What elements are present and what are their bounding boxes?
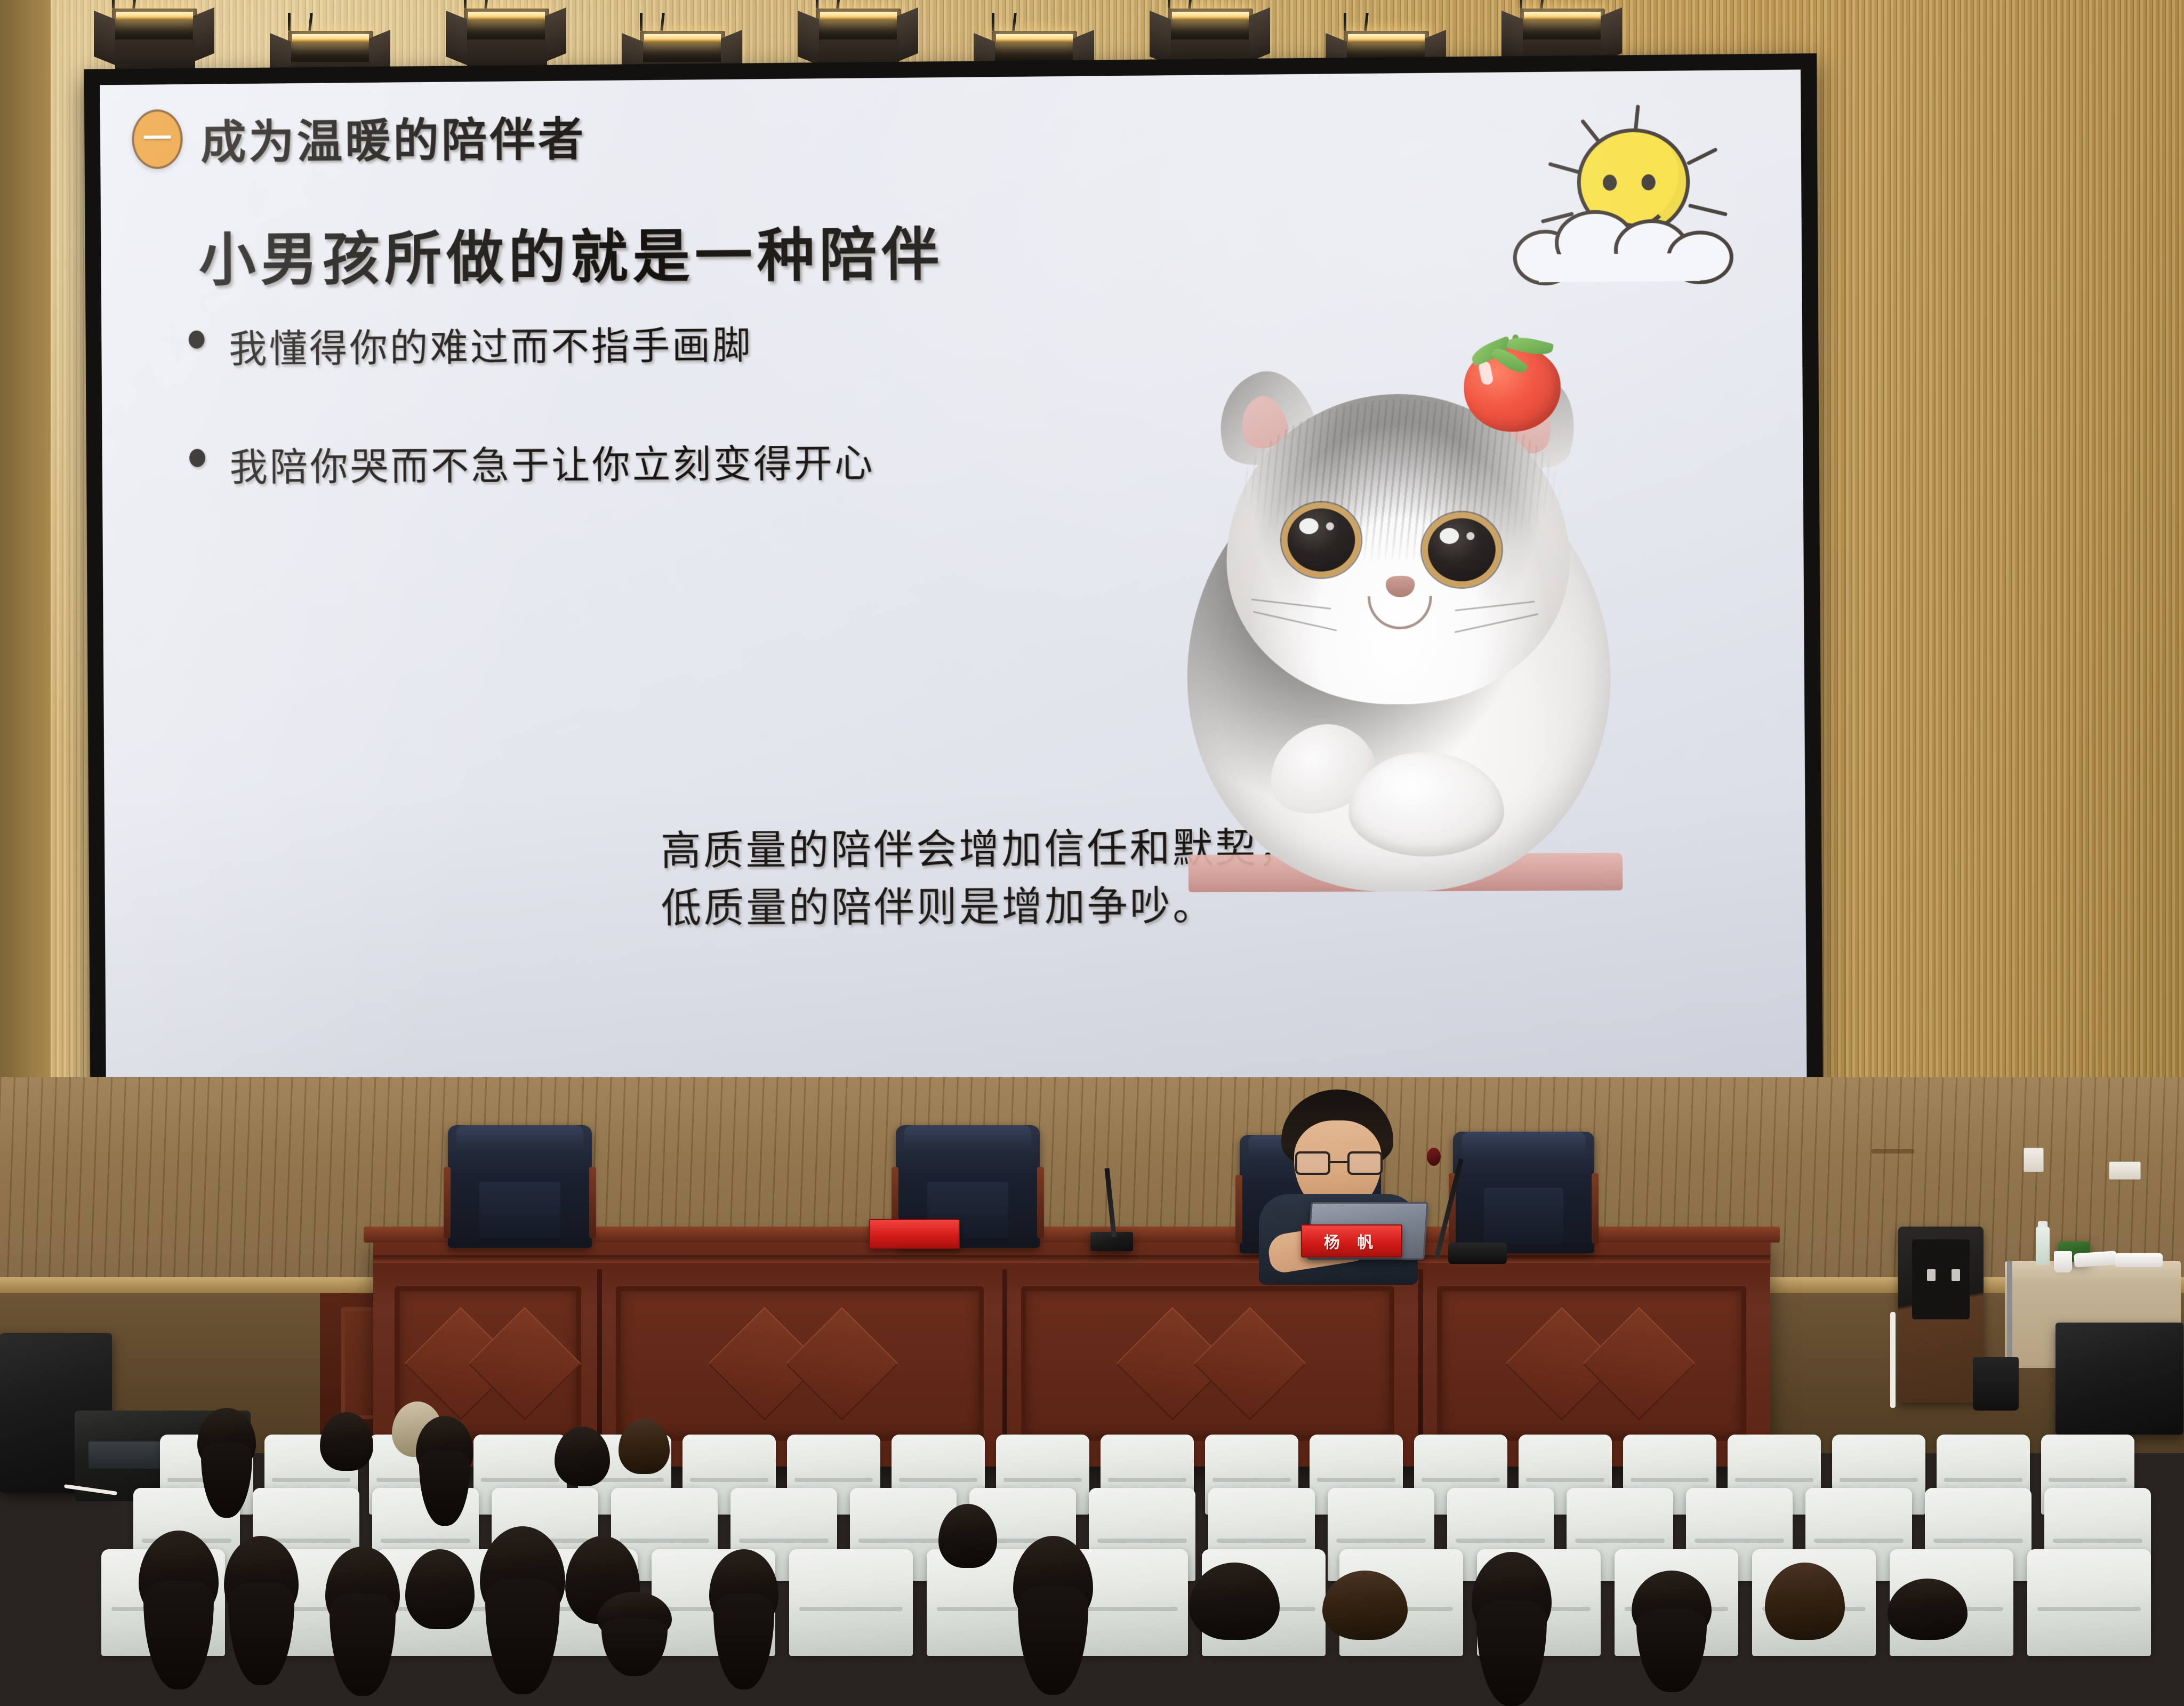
dispenser-tap-cold[interactable]	[1927, 1269, 1936, 1281]
barn-door-flap	[193, 7, 214, 62]
chair-cushion	[479, 1182, 560, 1238]
seat-cover-fold	[1317, 1478, 1395, 1482]
water-bottle	[2036, 1227, 2050, 1265]
seat-cover-fold	[1217, 1539, 1306, 1543]
cat-eye-left	[1281, 502, 1361, 578]
light-rod	[112, 0, 115, 9]
light-rod	[1520, 0, 1522, 9]
seat-cover-fold	[739, 1539, 829, 1543]
seat-cover-fold	[858, 1539, 948, 1543]
presenter-nameplate: 杨 帆	[1301, 1224, 1402, 1258]
light-lamp-glow	[468, 12, 545, 20]
eye-highlight	[1466, 532, 1474, 540]
barn-door-flap	[1601, 7, 1622, 62]
eye-highlight	[1440, 528, 1459, 544]
light-rod	[484, 0, 489, 9]
left-side-wall	[0, 0, 51, 1083]
sun-ray	[1687, 147, 1718, 165]
seat-cover-fold	[1213, 1478, 1291, 1482]
seat-cover-fold	[620, 1539, 709, 1543]
seat-cover-fold	[1074, 1607, 1178, 1611]
light-rod	[464, 0, 467, 9]
bullet-dot-icon	[189, 449, 205, 467]
table-leg	[2007, 1261, 2012, 1368]
barn-door-flap	[446, 11, 467, 65]
light-lamp-glow	[116, 12, 193, 20]
paper-cup	[2054, 1251, 2072, 1272]
table-front-panel	[616, 1286, 984, 1441]
projection-screen-frame: 一 成为温暖的陪伴者 小男孩所做的就是一种陪伴 我懂得你的难过而不指手画脚 我陪…	[84, 53, 1824, 1109]
dispenser-panel	[1912, 1239, 1970, 1319]
wall-switch-panel	[2109, 1162, 2141, 1180]
bullet-text: 我懂得你的难过而不指手画脚	[229, 314, 753, 373]
light-rod	[132, 0, 137, 9]
wall-vent	[1872, 1149, 1914, 1154]
table-rail	[373, 1255, 1770, 1263]
table-front-panel	[1021, 1286, 1394, 1441]
light-lamp-glow	[1172, 12, 1249, 20]
light-rod	[1540, 0, 1545, 9]
chair-headrest	[456, 1125, 583, 1150]
light-rod	[1012, 13, 1017, 31]
seat-cover-fold	[2037, 1607, 2141, 1611]
paper-cup-stack	[2115, 1253, 2163, 1267]
light-rod	[288, 13, 291, 31]
bullet-dot-icon	[189, 331, 205, 349]
table-chair	[448, 1125, 592, 1248]
seat-cover-fold	[1814, 1539, 1904, 1543]
seat-cover-fold	[1840, 1478, 1918, 1482]
seat-cover-fold	[794, 1478, 873, 1482]
seat-cover-fold	[690, 1478, 768, 1482]
seat-cover-fold	[1526, 1478, 1604, 1482]
section-number-text: 一	[143, 124, 172, 153]
chair-headrest	[904, 1125, 1031, 1150]
projection-screen-surface: 一 成为温暖的陪伴者 小男孩所做的就是一种陪伴 我懂得你的难过而不指手画脚 我陪…	[100, 69, 1806, 1093]
chair-arm-right	[589, 1167, 597, 1238]
light-rod	[836, 0, 841, 9]
bullet-item: 我陪你哭而不急于让你立刻变得开心	[189, 431, 875, 492]
slide-bullet-list: 我懂得你的难过而不指手画脚 我陪你哭而不急于让你立刻变得开心	[189, 313, 876, 555]
seat-cover-fold	[1735, 1478, 1813, 1482]
light-lamp-glow	[820, 12, 897, 20]
barn-door-flap	[94, 11, 115, 65]
light-lamp-glow	[996, 34, 1073, 43]
seat-cover-fold	[799, 1607, 903, 1611]
seat-cover-fold	[1422, 1478, 1500, 1482]
right-floor-speaker	[2055, 1323, 2183, 1435]
light-lamp-glow	[1348, 34, 1425, 43]
barn-door-flap	[1150, 11, 1171, 65]
diamond-inlay	[468, 1307, 581, 1420]
seat-cover-fold	[1944, 1478, 2022, 1482]
sun-ray	[1580, 119, 1601, 143]
table-chair	[1453, 1132, 1594, 1253]
auditorium-scene: 一 成为温暖的陪伴者 小男孩所做的就是一种陪伴 我懂得你的难过而不指手画脚 我陪…	[0, 0, 2184, 1638]
barn-door-flap	[545, 7, 566, 62]
chair-cushion	[1484, 1188, 1563, 1244]
barn-door-flap	[897, 7, 918, 62]
trash-bin	[1973, 1357, 2019, 1411]
glasses-lens-left	[1295, 1151, 1330, 1175]
chair-arm-right	[1592, 1173, 1599, 1244]
seat-cover-fold	[2053, 1539, 2142, 1543]
slide-section-header: 一 成为温暖的陪伴者	[132, 102, 587, 172]
cat-illustration	[1153, 311, 1693, 946]
seat-cover-fold	[1336, 1539, 1426, 1543]
chair-headrest	[1462, 1132, 1586, 1156]
seat-cover-fold	[1933, 1539, 2023, 1543]
barn-door-flap	[798, 11, 819, 65]
seat-cover-fold	[1631, 1478, 1709, 1482]
power-cable	[1890, 1312, 1896, 1408]
seat-cover-fold	[1456, 1539, 1545, 1543]
cloud-icon	[1513, 207, 1739, 289]
seat-cover-fold	[481, 1478, 559, 1482]
seat-cover-fold	[381, 1539, 470, 1543]
sun-icon	[1508, 105, 1745, 284]
presentation-slide: 一 成为温暖的陪伴者 小男孩所做的就是一种陪伴 我懂得你的难过而不指手画脚 我陪…	[100, 69, 1806, 1093]
light-lamp-glow	[292, 34, 369, 43]
light-rod	[1188, 0, 1193, 9]
dispenser-tap-hot[interactable]	[1952, 1269, 1960, 1281]
glasses-bridge	[1330, 1161, 1347, 1163]
section-number-badge: 一	[132, 109, 183, 169]
chair-arm-left	[1235, 1175, 1242, 1244]
seat-cover-fold	[1575, 1539, 1665, 1543]
section-title: 成为温暖的陪伴者	[200, 102, 587, 172]
microphone-base	[1448, 1243, 1507, 1264]
light-rod	[1344, 13, 1346, 31]
seat-cover-fold	[1003, 1478, 1082, 1482]
seat-cover-fold	[1097, 1539, 1187, 1543]
secondary-nameplate	[869, 1219, 960, 1249]
seat-cover-fold	[1695, 1539, 1784, 1543]
bullet-item: 我懂得你的难过而不指手画脚	[189, 313, 874, 373]
light-rod	[816, 0, 818, 9]
seat-cover-fold	[1108, 1478, 1186, 1482]
light-lamp-glow	[1524, 12, 1601, 20]
table-front-panel	[1437, 1286, 1746, 1441]
diamond-inlay	[1583, 1307, 1696, 1420]
bottle-cap	[2038, 1221, 2047, 1228]
right-wall-panel	[1845, 0, 2184, 1115]
barn-door-flap	[1249, 7, 1270, 62]
seat-cover-fold	[2049, 1478, 2127, 1482]
diamond-inlay	[1193, 1307, 1306, 1420]
light-rod	[992, 13, 994, 31]
cat-eye-right	[1422, 512, 1502, 587]
sun-ray	[1548, 162, 1582, 175]
chair-arm-left	[444, 1167, 451, 1238]
cloud-merge-mask	[1539, 253, 1700, 283]
light-rod	[308, 13, 313, 31]
glasses-lens-right	[1347, 1151, 1383, 1175]
audience-seat	[789, 1549, 913, 1656]
light-rod	[660, 13, 665, 31]
audience-seat	[2027, 1549, 2151, 1656]
right-wall-slats	[1845, 0, 2184, 1115]
light-lamp-glow	[644, 34, 721, 43]
nameplate-text: 杨 帆	[1324, 1229, 1379, 1253]
paper-cup-stack	[2074, 1251, 2117, 1268]
wall-outlet	[2024, 1148, 2044, 1172]
slide-headline: 小男孩所做的就是一种陪伴	[198, 208, 944, 297]
light-rod	[640, 13, 643, 31]
bullet-text: 我陪你哭而不急于让你立刻变得开心	[229, 431, 875, 492]
light-rod	[1364, 13, 1369, 31]
seat-cover-fold	[899, 1478, 977, 1482]
chair-arm-right	[1037, 1167, 1045, 1238]
diamond-inlay	[785, 1307, 898, 1420]
eyeglasses-icon	[1295, 1151, 1383, 1175]
eye-highlight	[1326, 522, 1334, 530]
water-dispenser	[1898, 1227, 1984, 1403]
light-rod	[1168, 0, 1170, 9]
eye-highlight	[1299, 518, 1319, 534]
seat-cover-fold	[272, 1478, 350, 1482]
microphone-head	[1427, 1148, 1441, 1166]
